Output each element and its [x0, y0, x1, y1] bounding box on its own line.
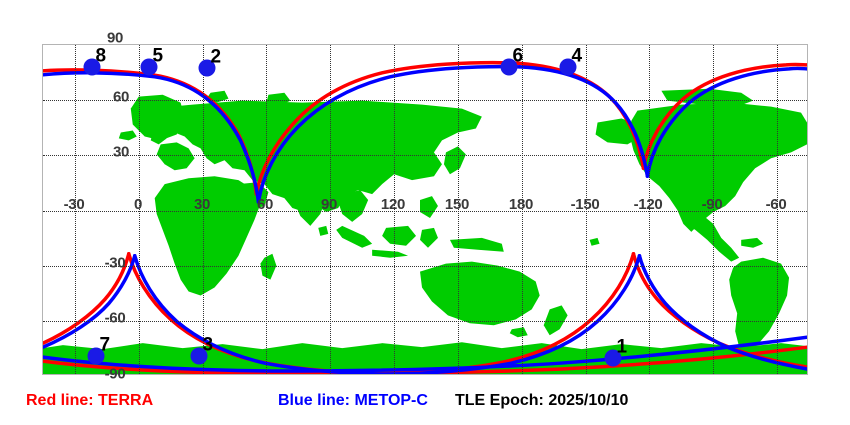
- lon-tick-label: 120: [381, 196, 405, 213]
- lat-tick-label: 90: [107, 30, 123, 47]
- lon-tick-label: 30: [194, 196, 210, 213]
- marker-label: 6: [513, 47, 524, 66]
- satellite-marker-2[interactable]: 2: [199, 60, 216, 77]
- lon-tick-label: 60: [257, 196, 273, 213]
- lon-tick-label: -120: [634, 196, 663, 213]
- lon-tick-label: 0: [134, 196, 142, 213]
- satellite-marker-1[interactable]: 1: [605, 350, 622, 367]
- marker-label: 5: [153, 47, 164, 66]
- lat-tick-label: 60: [113, 89, 129, 106]
- legend-blue-line: Blue line: METOP-C: [278, 392, 428, 410]
- legend: Red line: TERRA Blue line: METOP-C TLE E…: [0, 392, 850, 425]
- marker-label: 1: [617, 338, 628, 357]
- marker-label: 4: [572, 47, 583, 66]
- satellite-marker-7[interactable]: 7: [88, 348, 105, 365]
- lon-tick-label: 180: [509, 196, 533, 213]
- satellite-marker-5[interactable]: 5: [141, 59, 158, 76]
- lon-tick-label: 90: [321, 196, 337, 213]
- satellite-marker-3[interactable]: 3: [191, 348, 208, 365]
- marker-label: 3: [203, 336, 214, 355]
- lon-tick-label: -30: [64, 196, 85, 213]
- satellite-marker-4[interactable]: 4: [560, 59, 577, 76]
- marker-label: 7: [100, 336, 111, 355]
- lat-tick-label: -60: [105, 310, 126, 327]
- lon-tick-label: -90: [702, 196, 723, 213]
- satellite-marker-6[interactable]: 6: [501, 59, 518, 76]
- lon-tick-label: -60: [766, 196, 787, 213]
- legend-tle-epoch: TLE Epoch: 2025/10/10: [455, 392, 628, 410]
- legend-red-line: Red line: TERRA: [26, 392, 153, 410]
- marker-label: 2: [211, 48, 222, 67]
- lat-tick-label: -90: [105, 366, 126, 383]
- lat-tick-label: -30: [105, 255, 126, 272]
- world-map-svg: [43, 45, 807, 374]
- lat-tick-label: 30: [113, 144, 129, 161]
- ground-track-map: 8 5 2 6 4 7 3 1 -30 0: [0, 0, 850, 425]
- lon-tick-label: 150: [445, 196, 469, 213]
- map-plot-area: 8 5 2 6 4 7 3 1: [42, 44, 808, 375]
- satellite-marker-8[interactable]: 8: [84, 59, 101, 76]
- marker-label: 8: [96, 47, 107, 66]
- lon-tick-label: -150: [571, 196, 600, 213]
